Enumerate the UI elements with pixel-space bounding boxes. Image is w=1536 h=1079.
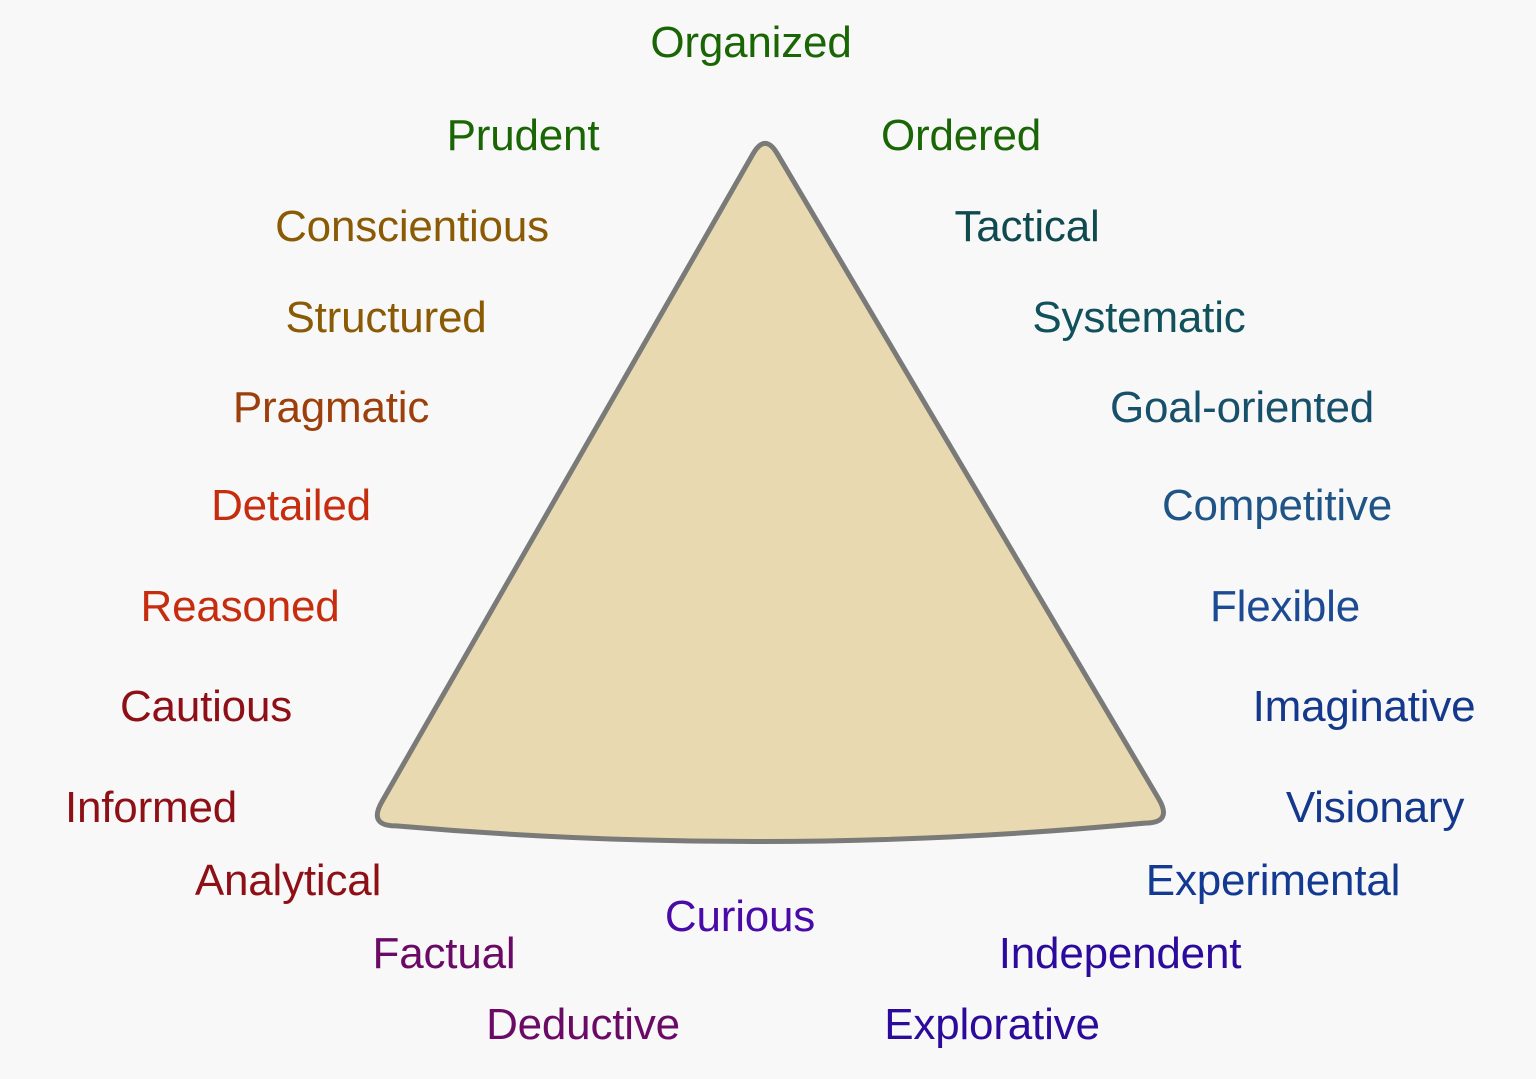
trait-label-factual: Factual (373, 932, 516, 976)
trait-label-cautious: Cautious (120, 685, 292, 729)
trait-label-reasoned: Reasoned (141, 585, 340, 629)
trait-label-systematic: Systematic (1032, 296, 1245, 340)
trait-label-independent: Independent (999, 932, 1242, 976)
trait-label-curious: Curious (665, 895, 815, 939)
trait-label-prudent: Prudent (447, 114, 600, 158)
trait-label-pragmatic: Pragmatic (233, 386, 429, 430)
trait-label-informed: Informed (65, 786, 237, 830)
trait-label-conscientious: Conscientious (275, 205, 549, 249)
trait-label-structured: Structured (286, 296, 487, 340)
trait-label-flexible: Flexible (1210, 585, 1360, 629)
trait-label-competitive: Competitive (1162, 484, 1392, 528)
trait-label-ordered: Ordered (881, 114, 1041, 158)
trait-label-detailed: Detailed (211, 484, 371, 528)
trait-label-goal-oriented: Goal-oriented (1110, 386, 1374, 430)
trait-label-analytical: Analytical (195, 859, 381, 903)
trait-label-experimental: Experimental (1146, 859, 1400, 903)
trait-label-tactical: Tactical (954, 205, 1099, 249)
trait-label-deductive: Deductive (486, 1003, 680, 1047)
trait-label-explorative: Explorative (884, 1003, 1099, 1047)
trait-label-visionary: Visionary (1286, 786, 1464, 830)
figure-canvas: OrganizedPrudentOrderedConscientiousTact… (0, 0, 1536, 1079)
trait-label-organized: Organized (650, 21, 851, 65)
trait-label-imaginative: Imaginative (1253, 685, 1476, 729)
